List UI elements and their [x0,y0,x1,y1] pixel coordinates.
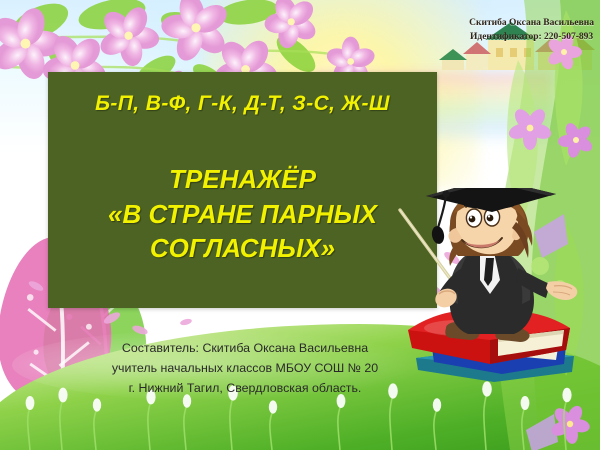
credits-block: Составитель: Скитиба Оксана Васильевна у… [80,338,410,398]
slide-canvas: Б-П, В-Ф, Г-К, Д-Т, З-С, Ж-Ш ТРЕНАЖЁР «В… [0,0,600,450]
watermark-author: Скитиба Оксана Васильевна [469,16,594,30]
credits-line-1: Составитель: Скитиба Оксана Васильевна [80,338,410,358]
watermark-block: Скитиба Оксана Васильевна Идентификатор:… [469,16,594,45]
main-title-line-2: «В СТРАНЕ ПАРНЫХ [58,197,427,232]
credits-line-3: г. Нижний Тагил, Свердловская область. [80,378,410,398]
graduate-character-illustration [398,188,594,402]
watermark-identifier: Идентификатор: 220-507-893 [469,30,594,44]
consonant-pairs-line: Б-П, В-Ф, Г-К, Д-Т, З-С, Ж-Ш [48,92,437,116]
title-panel: Б-П, В-Ф, Г-К, Д-Т, З-С, Ж-Ш ТРЕНАЖЁР «В… [48,72,437,308]
main-title: ТРЕНАЖЁР «В СТРАНЕ ПАРНЫХ СОГЛАСНЫХ» [58,162,427,266]
gown-body [450,250,534,334]
main-title-line-1: ТРЕНАЖЁР [58,162,427,197]
credits-line-2: учитель начальных классов МБОУ СОШ № 20 [80,358,410,378]
main-title-line-3: СОГЛАСНЫХ» [58,231,427,266]
